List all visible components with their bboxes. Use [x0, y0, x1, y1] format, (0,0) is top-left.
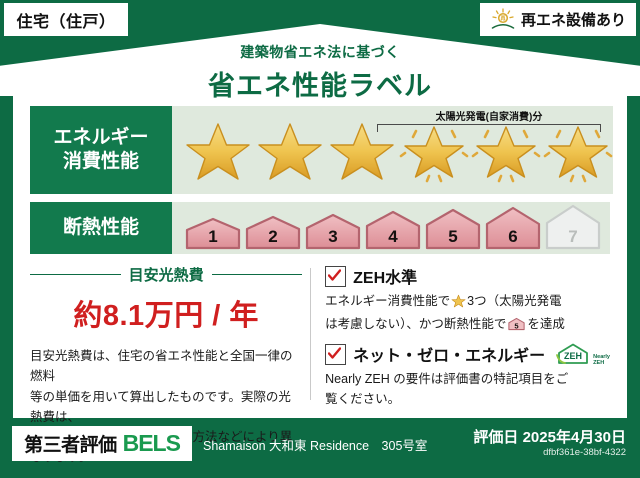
net-zero-body-line2: 覧ください。: [325, 389, 610, 409]
title-subtitle: 建築物省エネ法に基づく: [0, 42, 640, 62]
footer: 第三者評価 BELS Shamaison 大和東 Residence 305号室…: [0, 420, 640, 478]
insulation-level-4: 4: [364, 210, 422, 250]
page-title: 省エネ性能ラベル: [0, 64, 640, 103]
cost-note-line1: 目安光熱費は、住宅の省エネ性能と全国一律の燃料: [30, 346, 302, 387]
zeh-level-title: ZEH水準: [353, 264, 417, 288]
solar-portion-caption: 太陽光発電(自家消費)分: [373, 108, 605, 123]
insulation-level-2-number: 2: [244, 227, 302, 247]
inline-house-level-icon: 5: [508, 320, 525, 334]
net-zero-body: Nearly ZEH の要件は評価書の特記項目をご 覧ください。: [325, 369, 610, 409]
energy-row-body: 太陽光発電(自家消費)分: [172, 106, 613, 194]
net-zero-header: ネット・ゼロ・エネルギー ZEH Nearly ZEH: [325, 342, 610, 366]
bracket-line: [377, 124, 601, 132]
zeh-level-header: ZEH水準: [325, 264, 610, 288]
insulation-level-7: 7: [544, 204, 602, 250]
insulation-level-4-number: 4: [364, 227, 422, 247]
zeh-sub-line2: ZEH: [593, 360, 604, 366]
heading-rule-right: [212, 274, 303, 275]
bels-badge: 第三者評価 BELS: [12, 426, 192, 461]
sun-icon: 再: [490, 8, 516, 32]
checkbox-checked-icon: [325, 266, 346, 287]
title-block: 建築物省エネ法に基づく 省エネ性能ラベル: [0, 42, 640, 103]
net-zero-title: ネット・ゼロ・エネルギー: [353, 342, 545, 366]
insulation-level-5: 5: [424, 208, 482, 250]
evaluation-date: 評価日 2025年4月30日: [473, 426, 626, 447]
net-zero-body-line1: Nearly ZEH の要件は評価書の特記項目をご: [325, 369, 610, 389]
utility-cost-title: 目安光熱費: [129, 264, 204, 285]
zeh-level-body: エネルギー消費性能で3つ（太陽光発電 は考慮しない）、かつ断熱性能で5を達成: [325, 291, 610, 337]
renewable-equipment-badge: 再 再エネ設備あり: [480, 3, 636, 36]
star-2: [255, 115, 325, 183]
insulation-performance-row: 断熱性能 1: [30, 202, 610, 254]
energy-row-label: エネルギー 消費性能: [30, 106, 172, 194]
solar-portion-bracket: 太陽光発電(自家消費)分: [373, 108, 605, 132]
renewable-badge-text: 再エネ設備あり: [521, 9, 626, 30]
insulation-scale: 1 2 3: [172, 204, 602, 253]
insulation-label-text: 断熱性能: [63, 216, 139, 240]
insulation-level-3: 3: [304, 213, 362, 250]
insulation-level-1: 1: [184, 217, 242, 250]
certification-column: ZEH水準 エネルギー消費性能で3つ（太陽光発電 は考慮しない）、かつ断熱性能で…: [325, 264, 610, 404]
svg-text:ZEH: ZEH: [564, 351, 582, 361]
inline-star-icon: [451, 297, 466, 311]
lower-section: 目安光熱費 約8.1万円 / 年 目安光熱費は、住宅の省エネ性能と全国一律の燃料…: [30, 264, 610, 404]
zeh-logo-subtext: Nearly ZEH: [593, 354, 610, 366]
building-type-text: 住宅（住戸）: [16, 8, 115, 32]
bels-jp-text: 第三者評価: [24, 430, 117, 457]
insulation-level-3-number: 3: [304, 227, 362, 247]
insulation-level-5-number: 5: [424, 227, 482, 247]
zeh-body-pre: エネルギー消費性能で: [325, 294, 450, 308]
star-1: [183, 115, 253, 183]
bels-en-text: BELS: [123, 430, 180, 457]
building-type-badge: 住宅（住戸）: [4, 3, 128, 36]
zeh-body-post: を達成: [527, 317, 565, 331]
utility-cost-value: 約8.1万円 / 年: [30, 292, 302, 334]
checkbox-checked-icon-2: [325, 344, 346, 365]
insulation-row-label: 断熱性能: [30, 202, 172, 254]
insulation-level-1-number: 1: [184, 227, 242, 247]
zeh-house-logo-icon: ZEH Nearly ZEH: [555, 342, 610, 366]
evaluation-id: dfbf361e-38bf-4322: [543, 447, 626, 458]
energy-label-line1: エネルギー: [53, 126, 148, 150]
main-panel: エネルギー 消費性能: [13, 96, 627, 418]
insulation-level-2: 2: [244, 215, 302, 250]
certification-zeh-level: ZEH水準 エネルギー消費性能で3つ（太陽光発電 は考慮しない）、かつ断熱性能で…: [325, 264, 610, 337]
insulation-row-body: 1 2 3: [172, 202, 610, 254]
insulation-level-7-number: 7: [544, 227, 602, 247]
energy-performance-label: 住宅（住戸） 再 再エネ設備あり 建築物省エネ法に基づく 省エネ性能ラベル: [0, 0, 640, 478]
column-divider: [310, 268, 311, 400]
energy-label-line2: 消費性能: [63, 150, 139, 174]
svg-text:再: 再: [500, 15, 505, 22]
zeh-body-star-text: 3つ（太陽光発電: [467, 294, 561, 308]
insulation-level-6-number: 6: [484, 227, 542, 247]
energy-performance-row: エネルギー 消費性能: [30, 106, 610, 194]
zeh-body-mid: は考慮しない）、かつ断熱性能で: [325, 317, 506, 331]
utility-cost-heading: 目安光熱費: [30, 264, 302, 285]
certification-net-zero-energy: ネット・ゼロ・エネルギー ZEH Nearly ZEH: [325, 342, 610, 409]
heading-rule-left: [30, 274, 121, 275]
insulation-level-6: 6: [484, 206, 542, 250]
property-name: Shamaison 大和東 Residence 305号室: [203, 435, 427, 454]
utility-cost-column: 目安光熱費 約8.1万円 / 年 目安光熱費は、住宅の省エネ性能と全国一律の燃料…: [30, 264, 302, 404]
